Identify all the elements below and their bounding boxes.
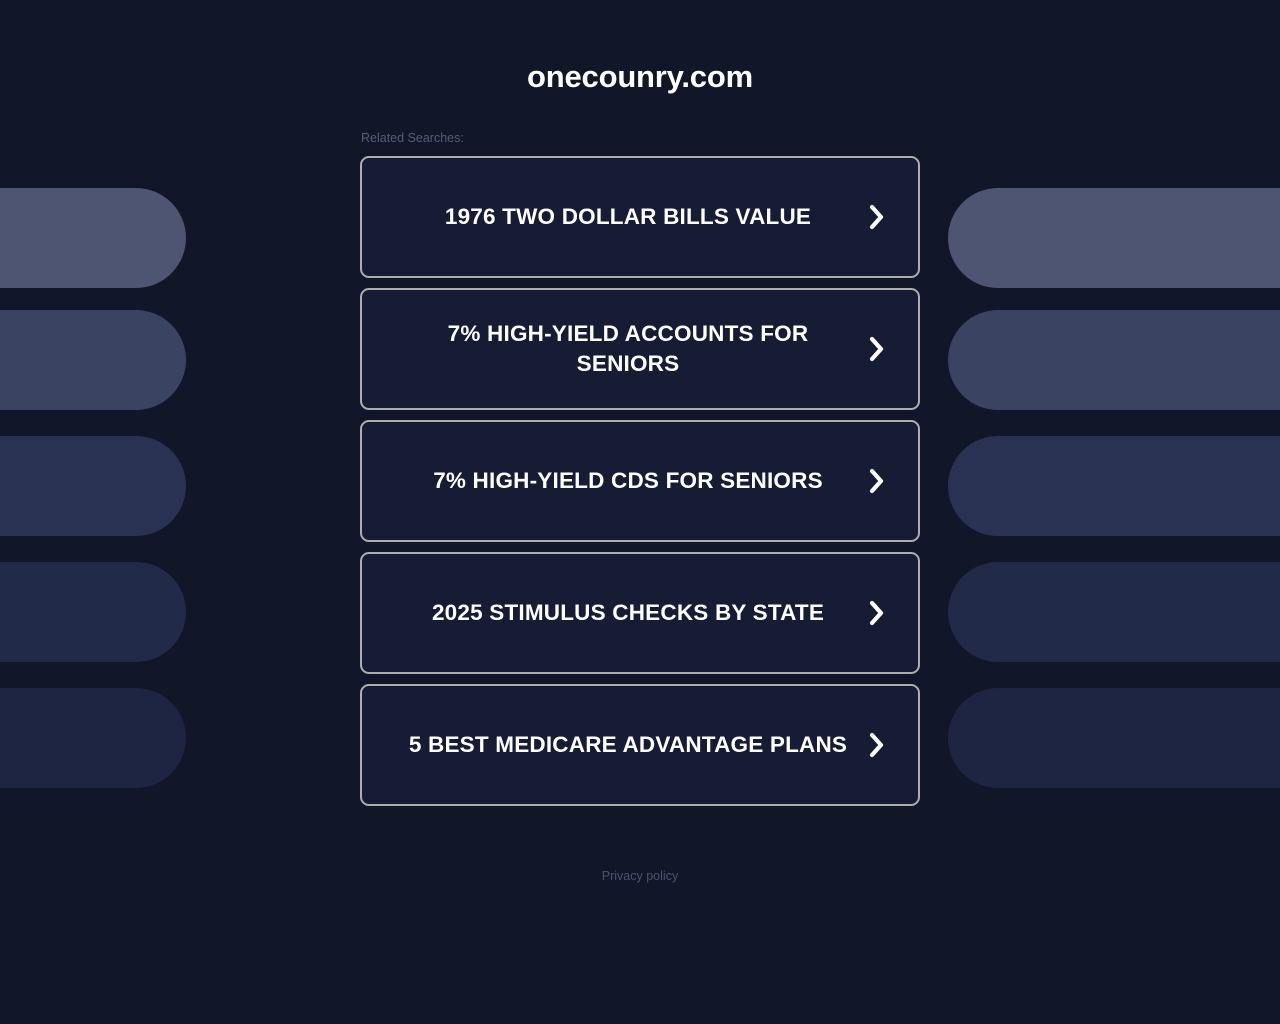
related-searches-list: 1976 TWO DOLLAR BILLS VALUE 7% HIGH-YIEL…	[360, 156, 920, 806]
page-title: onecounry.com	[527, 56, 753, 98]
page-footer: Privacy policy	[0, 868, 1280, 884]
related-search-label: 7% HIGH-YIELD CDS FOR SENIORS	[396, 466, 866, 496]
page-root: onecounry.com Related Searches: 1976 TWO…	[0, 0, 1280, 1024]
chevron-right-icon	[866, 467, 888, 495]
related-search-label: 5 BEST MEDICARE ADVANTAGE PLANS	[396, 730, 866, 760]
related-searches-label: Related Searches:	[360, 130, 920, 146]
chevron-right-icon	[866, 203, 888, 231]
chevron-right-icon	[866, 731, 888, 759]
related-search-label: 2025 STIMULUS CHECKS BY STATE	[396, 598, 866, 628]
related-search-item-3[interactable]: 7% HIGH-YIELD CDS FOR SENIORS	[360, 420, 920, 542]
related-search-item-4[interactable]: 2025 STIMULUS CHECKS BY STATE	[360, 552, 920, 674]
chevron-right-icon	[866, 335, 888, 363]
related-search-label: 1976 TWO DOLLAR BILLS VALUE	[396, 202, 866, 232]
privacy-policy-link[interactable]: Privacy policy	[602, 868, 678, 884]
related-search-item-5[interactable]: 5 BEST MEDICARE ADVANTAGE PLANS	[360, 684, 920, 806]
related-search-label: 7% HIGH-YIELD ACCOUNTS FOR SENIORS	[396, 319, 866, 379]
chevron-right-icon	[866, 599, 888, 627]
related-search-item-2[interactable]: 7% HIGH-YIELD ACCOUNTS FOR SENIORS	[360, 288, 920, 410]
related-search-item-1[interactable]: 1976 TWO DOLLAR BILLS VALUE	[360, 156, 920, 278]
related-searches-section: Related Searches: 1976 TWO DOLLAR BILLS …	[360, 130, 920, 806]
